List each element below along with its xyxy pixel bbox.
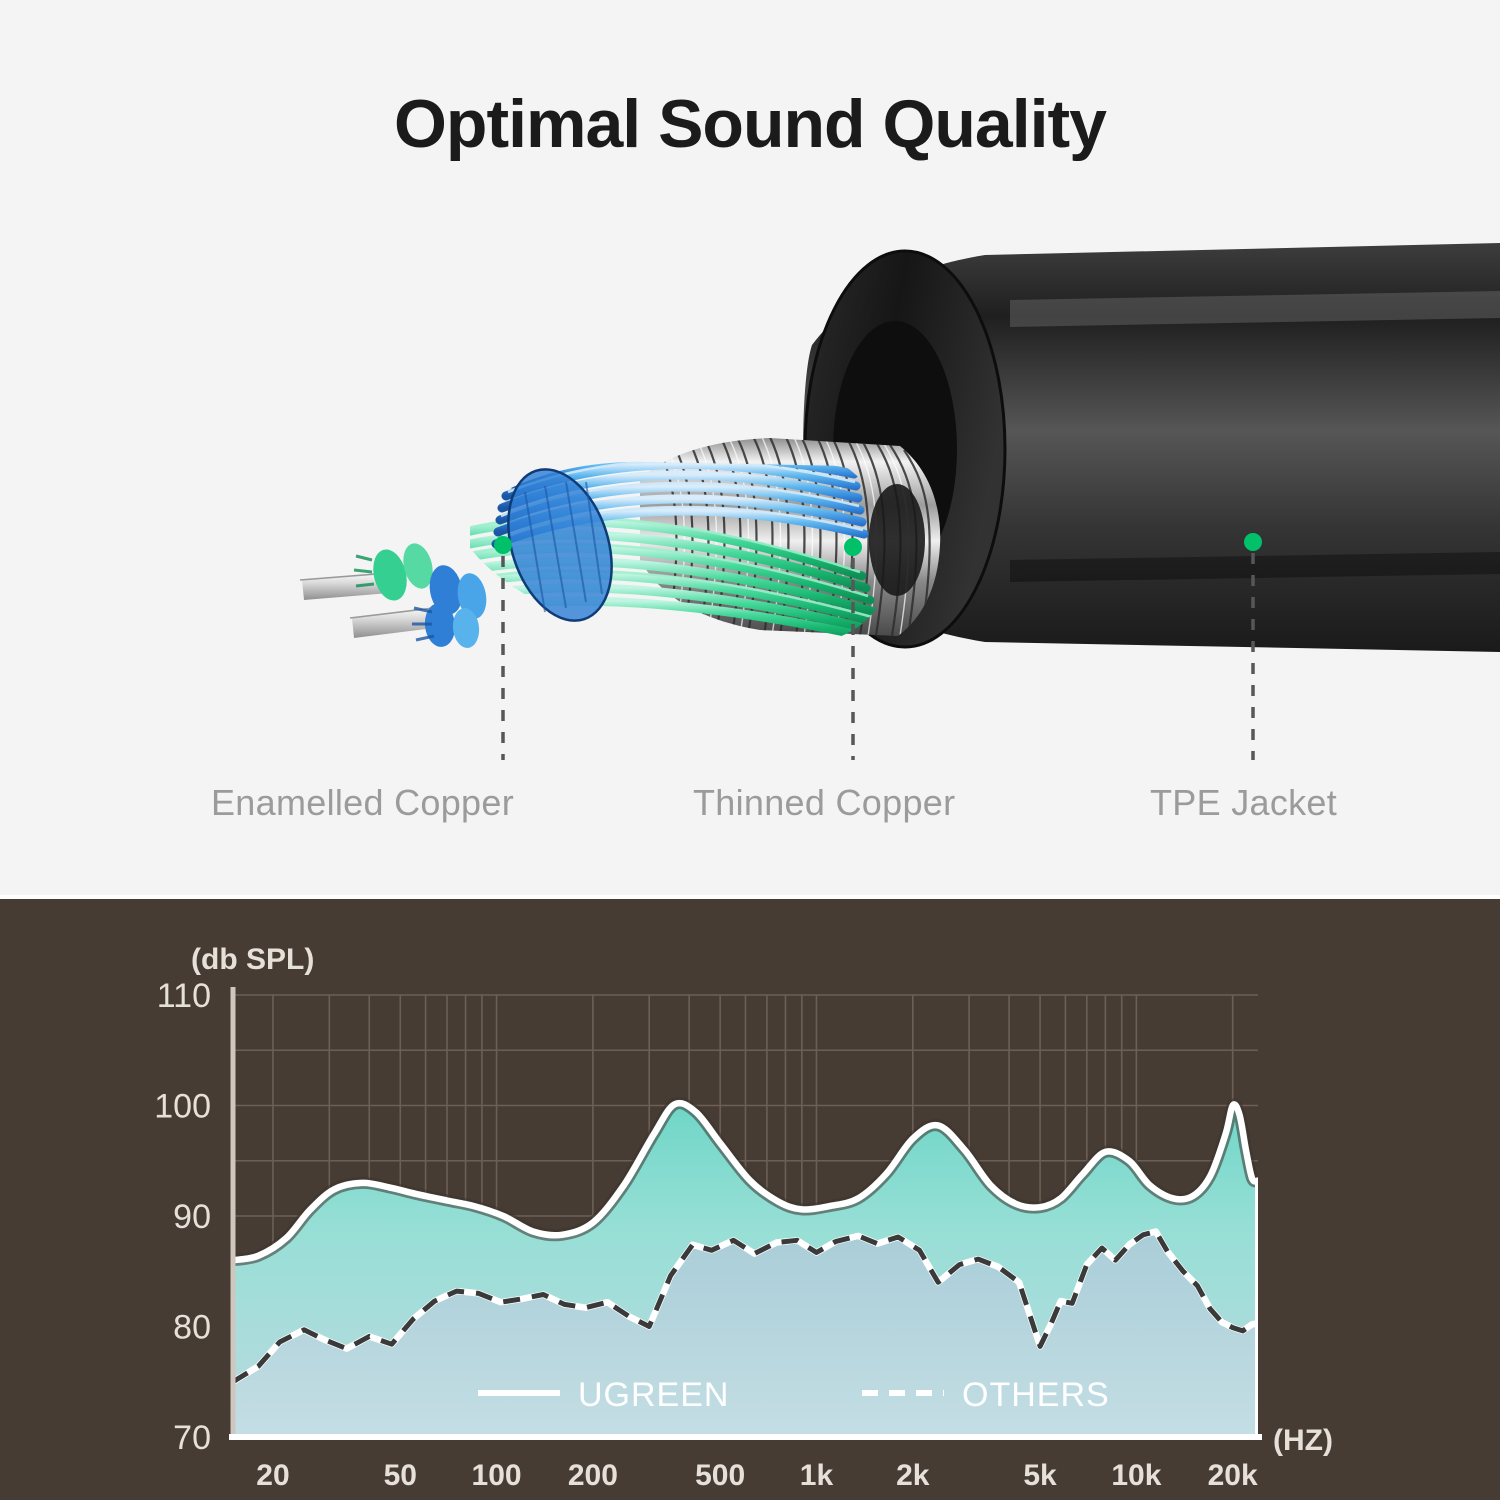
tpe-jacket-dot xyxy=(1244,533,1262,551)
product-feature-graphic: Optimal Sound Quality xyxy=(0,0,1500,1500)
x-tick-labels: 20501002005001k2k5k10k20k xyxy=(256,1459,1258,1492)
y-tick-label: 100 xyxy=(154,1088,211,1126)
thinned-copper-dot xyxy=(844,538,862,556)
x-tick-label: 20 xyxy=(256,1459,289,1492)
frequency-response-chart-panel: 708090100110 20501002005001k2k5k10k20k (… xyxy=(0,899,1500,1500)
callout-label-thinned-copper: Thinned Copper xyxy=(693,782,955,824)
x-tick-label: 100 xyxy=(472,1459,522,1492)
legend-label-others: OTHERS xyxy=(962,1376,1110,1414)
y-tick-label: 70 xyxy=(173,1419,211,1457)
cable-illustration-panel: Optimal Sound Quality xyxy=(0,0,1500,898)
cable-diagram xyxy=(0,0,1500,760)
x-tick-label: 200 xyxy=(568,1459,618,1492)
x-tick-label: 20k xyxy=(1208,1459,1258,1492)
x-tick-label: 5k xyxy=(1023,1459,1057,1492)
x-axis-unit-label: (HZ) xyxy=(1273,1424,1333,1457)
x-tick-label: 10k xyxy=(1111,1459,1161,1492)
wire-tips xyxy=(300,540,490,649)
x-tick-label: 1k xyxy=(800,1459,834,1492)
x-tick-label: 500 xyxy=(695,1459,745,1492)
x-tick-label: 2k xyxy=(896,1459,930,1492)
callout-label-tpe-jacket: TPE Jacket xyxy=(1150,782,1337,824)
y-axis-unit-label: (db SPL) xyxy=(191,943,314,976)
enamelled-copper-dot xyxy=(494,536,512,554)
legend-label-ugreen: UGREEN xyxy=(578,1376,729,1414)
x-tick-label: 50 xyxy=(384,1459,417,1492)
y-tick-label: 90 xyxy=(173,1198,211,1236)
y-tick-label: 80 xyxy=(173,1309,211,1347)
y-tick-label: 110 xyxy=(157,977,211,1015)
callout-label-enamelled-copper: Enamelled Copper xyxy=(211,782,514,824)
y-tick-labels: 708090100110 xyxy=(154,977,211,1457)
